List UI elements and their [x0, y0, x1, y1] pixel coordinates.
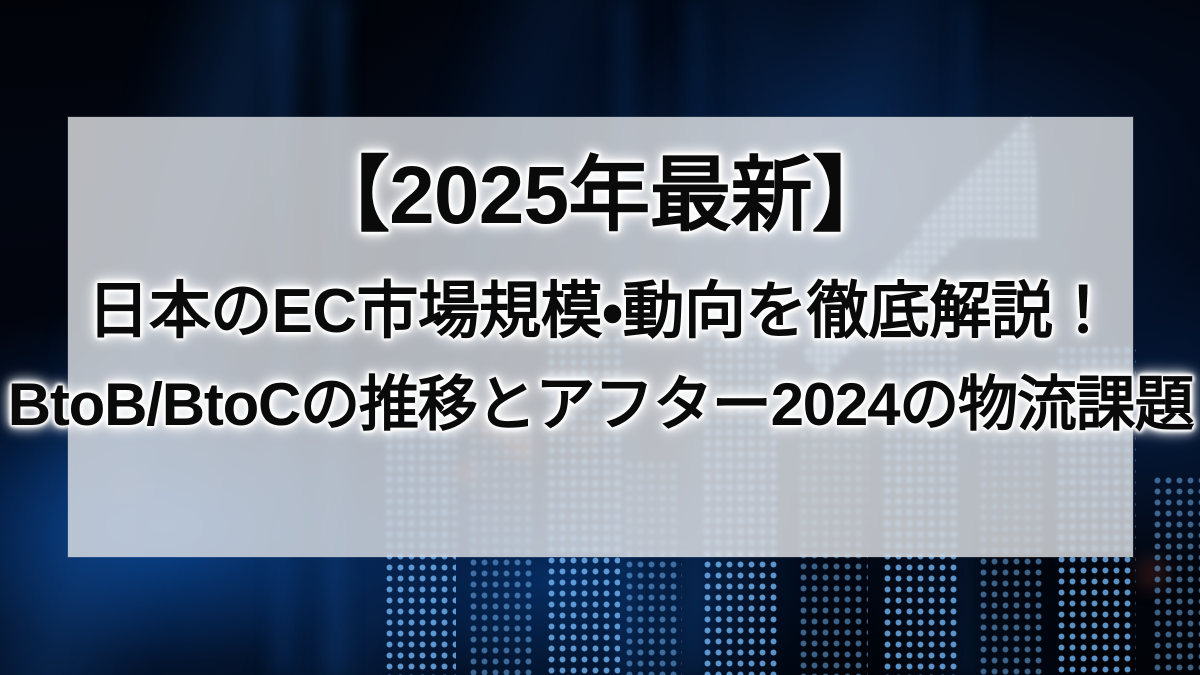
title-line-3: BtoB/BtoCの推移とアフター2024の物流課題: [8, 375, 1194, 435]
title-line-2: 日本のEC市場規模・動向を徹底解説！: [87, 281, 1113, 343]
title-line-1: 【2025年最新】: [308, 155, 893, 237]
led-bar-column: [1152, 475, 1200, 675]
title-card-canvas: 【2025年最新】 日本のEC市場規模・動向を徹底解説！ BtoB/BtoCの推…: [0, 0, 1200, 675]
title-block: 【2025年最新】 日本のEC市場規模・動向を徹底解説！ BtoB/BtoCの推…: [68, 117, 1133, 557]
